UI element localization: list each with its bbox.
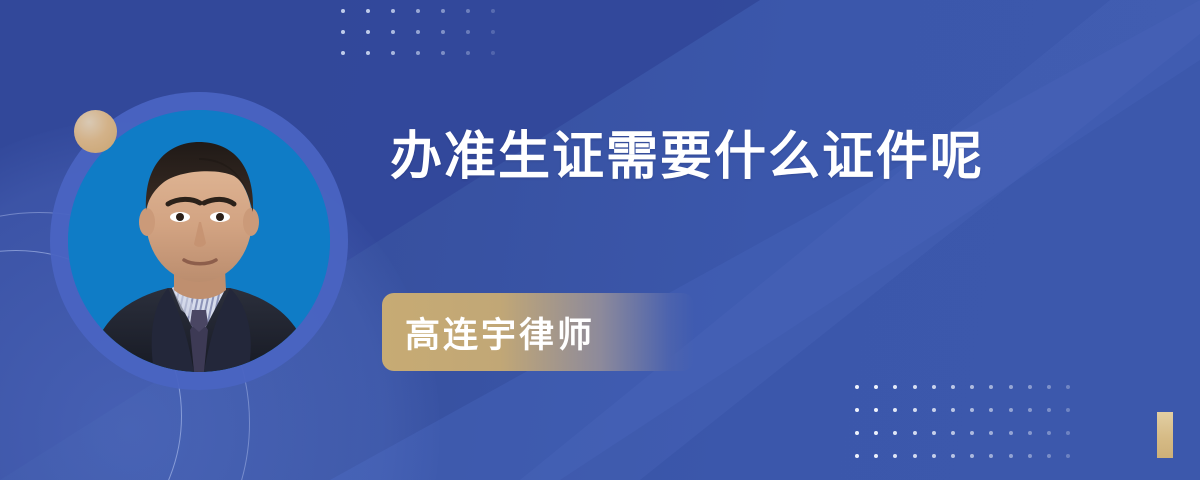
gold-bar-accent <box>1157 412 1173 458</box>
dot <box>391 51 395 55</box>
dot <box>951 408 955 412</box>
dot <box>366 9 370 13</box>
dot <box>491 30 495 34</box>
dot <box>1047 408 1051 412</box>
dot <box>893 431 897 435</box>
dot <box>893 385 897 389</box>
dot <box>932 385 936 389</box>
dot <box>855 385 859 389</box>
dot <box>951 454 955 458</box>
dot <box>951 431 955 435</box>
dot <box>491 9 495 13</box>
dot <box>913 431 917 435</box>
dot <box>1047 385 1051 389</box>
dot <box>1066 408 1070 412</box>
dot-grid-top <box>341 9 516 72</box>
dot <box>416 51 420 55</box>
name-badge: 高连宇律师 <box>382 293 694 371</box>
dot <box>855 408 859 412</box>
dot <box>1009 408 1013 412</box>
dot <box>441 9 445 13</box>
dot <box>1028 385 1032 389</box>
dot <box>416 30 420 34</box>
dot <box>989 408 993 412</box>
name-badge-label: 高连宇律师 <box>382 307 595 358</box>
dot <box>989 454 993 458</box>
gold-circle-accent <box>74 110 117 153</box>
dot <box>1009 454 1013 458</box>
dot <box>1066 385 1070 389</box>
dot <box>951 385 955 389</box>
page-title: 办准生证需要什么证件呢 <box>390 128 984 188</box>
dot <box>913 454 917 458</box>
dot <box>932 454 936 458</box>
dot <box>1028 431 1032 435</box>
dot <box>932 431 936 435</box>
dot <box>391 9 395 13</box>
dot <box>366 51 370 55</box>
dot <box>893 454 897 458</box>
dot <box>466 30 470 34</box>
dot <box>855 454 859 458</box>
dot <box>1009 431 1013 435</box>
dot <box>466 9 470 13</box>
dot <box>416 9 420 13</box>
dot <box>1009 385 1013 389</box>
dot <box>989 385 993 389</box>
dot <box>366 30 370 34</box>
dot <box>989 431 993 435</box>
dot <box>1047 431 1051 435</box>
dot <box>441 30 445 34</box>
dot <box>855 431 859 435</box>
dot <box>1028 454 1032 458</box>
dot <box>913 385 917 389</box>
dot <box>874 454 878 458</box>
dot <box>970 385 974 389</box>
dot <box>341 51 345 55</box>
dot <box>341 30 345 34</box>
dot <box>913 408 917 412</box>
dot <box>491 51 495 55</box>
dot <box>1047 454 1051 458</box>
dot <box>1028 408 1032 412</box>
dot <box>874 385 878 389</box>
dot <box>341 9 345 13</box>
dot <box>874 408 878 412</box>
dot <box>874 431 878 435</box>
avatar <box>50 92 348 390</box>
dot <box>970 431 974 435</box>
dot <box>1066 431 1070 435</box>
dot <box>1066 454 1070 458</box>
dot <box>441 51 445 55</box>
dot <box>391 30 395 34</box>
dot-grid-bottom <box>855 385 1085 477</box>
dot <box>970 454 974 458</box>
dot <box>932 408 936 412</box>
dot <box>466 51 470 55</box>
dot <box>970 408 974 412</box>
banner-card: 办准生证需要什么证件呢 高连宇律师 <box>0 0 1200 480</box>
dot <box>893 408 897 412</box>
